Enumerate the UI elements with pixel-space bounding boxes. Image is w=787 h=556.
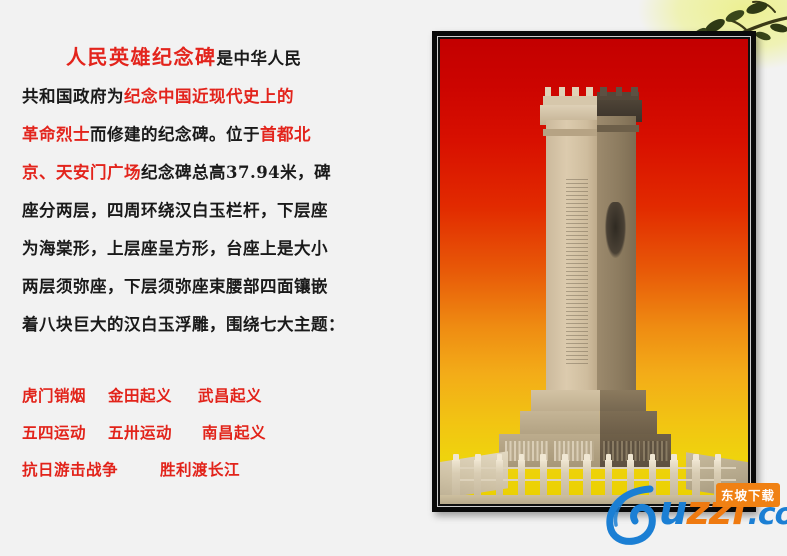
balustrade-post — [474, 460, 481, 497]
theme-item: 胜利渡长江 — [160, 452, 240, 489]
pedestal-tier1-right — [600, 390, 646, 411]
theme-row: 抗日游击战争胜利渡长江 — [22, 452, 420, 489]
article-line: 京、天安门广场纪念碑总高37.94米，碑 — [22, 154, 410, 192]
monument-merlon — [616, 87, 623, 96]
monument-merlon — [631, 87, 638, 96]
balustrade-post — [583, 460, 590, 497]
article-segment: 座分两层，四周环绕汉白玉栏杆，下层座 — [22, 201, 328, 220]
monument-emblem-icon — [605, 202, 627, 258]
article-paragraph: 人民英雄纪念碑是中华人民共和国政府为纪念中国近现代史上的革命烈士而修建的纪念碑。… — [0, 38, 420, 344]
article-segment: 是中华人民 — [217, 49, 302, 68]
uzzf-logo-icon — [604, 483, 664, 545]
article-text-column: 人民英雄纪念碑是中华人民共和国政府为纪念中国近现代史上的革命烈士而修建的纪念碑。… — [0, 38, 420, 344]
article-segment: 着八块巨大的汉白玉浮雕，围绕七大主题： — [22, 315, 345, 334]
watermark-u: u — [659, 488, 686, 534]
balustrade-post — [540, 460, 547, 497]
balustrade-post — [518, 460, 525, 497]
article-segment: 京、天安门广场 — [22, 163, 141, 182]
monument-band-right — [597, 125, 639, 132]
theme-row: 虎门销烟金田起义武昌起义 — [22, 378, 420, 415]
theme-item: 五卅运动 — [108, 415, 172, 452]
theme-item: 五四运动 — [22, 415, 86, 452]
article-segment: 米，碑 — [280, 163, 331, 182]
article-segment: 而修建的纪念碑。位于 — [90, 125, 260, 144]
themes-list: 虎门销烟金田起义武昌起义五四运动五卅运动南昌起义抗日游击战争胜利渡长江 — [0, 378, 420, 489]
relief-panel — [643, 441, 668, 461]
article-segment: 首都北 — [260, 125, 311, 144]
site-watermark: uzzf.com 东坡下载 — [604, 477, 787, 547]
article-segment: 纪念碑总高 — [141, 163, 226, 182]
article-segment: 纪念中国近现代史上的 — [124, 87, 294, 106]
theme-item: 虎门销烟 — [22, 378, 86, 415]
monument-photo — [440, 39, 748, 504]
theme-item: 抗日游击战争 — [22, 452, 118, 489]
monument-merlon — [559, 87, 566, 96]
monument-merlon — [600, 87, 607, 96]
balustrade-post — [452, 460, 459, 497]
monument-photo-frame — [432, 31, 756, 512]
pedestal-tier2-left — [520, 411, 600, 437]
theme-row: 五四运动五卅运动南昌起义 — [22, 415, 420, 452]
article-segment: 共和国政府为 — [22, 87, 124, 106]
article-segment: 革命烈士 — [22, 125, 90, 144]
theme-item: 武昌起义 — [198, 378, 262, 415]
article-segment: 为海棠形，上层座呈方形，台座上是大小 — [22, 239, 328, 258]
monument-merlon — [545, 87, 552, 96]
article-segment: 两层须弥座，下层须弥座束腰部四面镶嵌 — [22, 277, 328, 296]
monument-inscription — [566, 179, 588, 365]
balustrade-post — [496, 460, 503, 497]
article-line: 共和国政府为纪念中国近现代史上的 — [22, 78, 410, 116]
article-line: 两层须弥座，下层须弥座束腰部四面镶嵌 — [22, 268, 410, 306]
photo-inner-border — [437, 36, 751, 507]
article-segment: 37.94 — [226, 163, 280, 182]
article-line: 座分两层，四周环绕汉白玉栏杆，下层座 — [22, 192, 410, 230]
pedestal-tier1-left — [531, 390, 600, 411]
article-segment: 人民英雄纪念碑 — [66, 45, 217, 69]
theme-item: 南昌起义 — [202, 415, 266, 452]
monument-band-left — [543, 129, 597, 136]
theme-item: 金田起义 — [108, 378, 172, 415]
balustrade-post — [561, 460, 568, 497]
watermark-badge: 东坡下载 — [716, 483, 780, 507]
article-line: 人民英雄纪念碑是中华人民 — [22, 38, 410, 78]
article-line: 革命烈士而修建的纪念碑。位于首都北 — [22, 116, 410, 154]
monument-merlon — [586, 87, 593, 96]
pedestal-tier2-right — [600, 411, 657, 437]
article-line: 着八块巨大的汉白玉浮雕，围绕七大主题： — [22, 306, 410, 344]
monument-merlon — [572, 87, 579, 96]
article-line: 为海棠形，上层座呈方形，台座上是大小 — [22, 230, 410, 268]
